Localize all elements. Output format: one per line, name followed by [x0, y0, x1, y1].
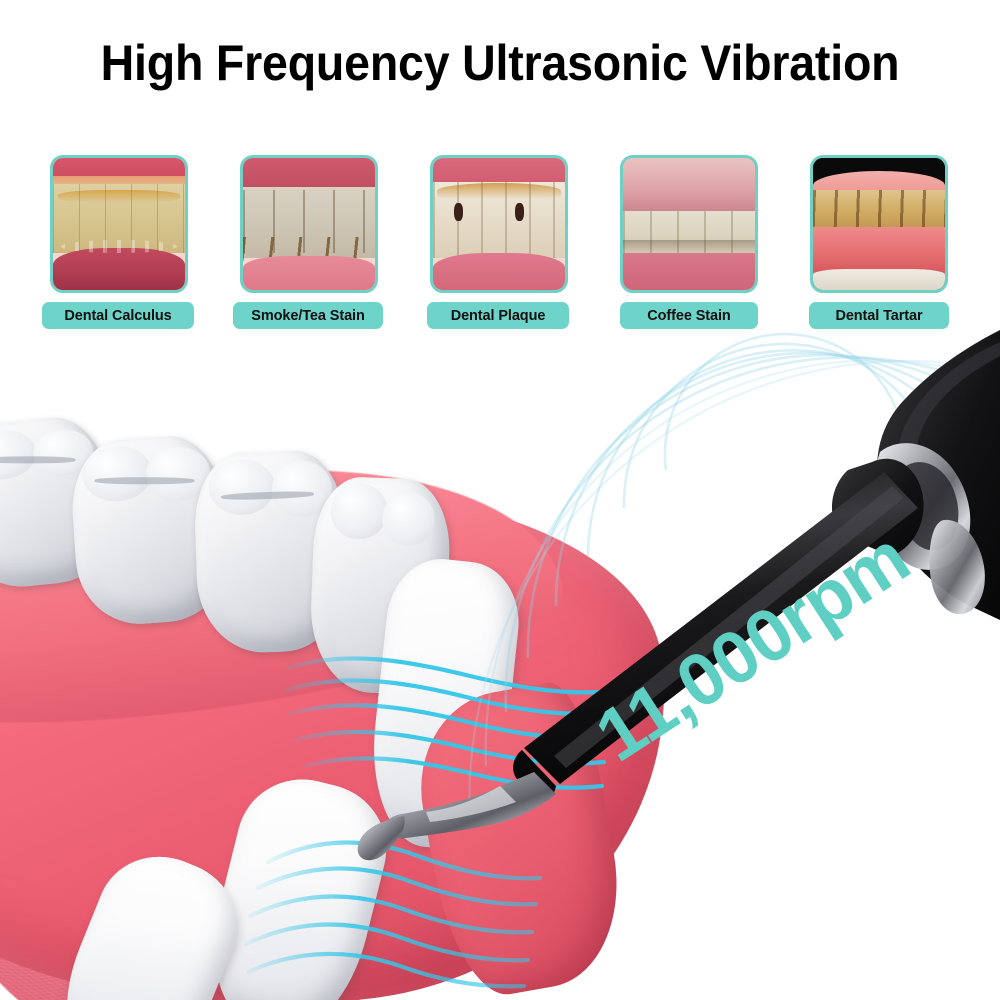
- condition-card-dental-calculus: Dental Calculus: [50, 155, 188, 329]
- condition-label: Dental Plaque: [427, 302, 569, 329]
- condition-label: Smoke/Tea Stain: [233, 302, 383, 329]
- condition-card-dental-tartar: Dental Tartar: [810, 155, 948, 329]
- condition-label: Coffee Stain: [620, 302, 758, 329]
- condition-card-dental-plaque: Dental Plaque: [430, 155, 568, 329]
- page-title: High Frequency Ultrasonic Vibration: [35, 34, 965, 92]
- condition-card-coffee-stain: Coffee Stain: [620, 155, 758, 329]
- condition-photo-dental-calculus: [50, 155, 188, 293]
- condition-photo-coffee-stain: [620, 155, 758, 293]
- condition-photo-dental-tartar: [810, 155, 948, 293]
- condition-photo-smoke-tea-stain: [240, 155, 378, 293]
- condition-card-smoke-tea-stain: Smoke/Tea Stain: [240, 155, 378, 329]
- condition-card-row: Dental Calculus Smoke/Tea Stain: [0, 155, 1000, 350]
- product-feature-image: High Frequency Ultrasonic Vibration Dent…: [0, 0, 1000, 1000]
- condition-photo-dental-plaque: [430, 155, 568, 293]
- condition-label: Dental Calculus: [42, 302, 194, 329]
- mouth-illustration: [0, 360, 1000, 1000]
- condition-label: Dental Tartar: [809, 302, 949, 329]
